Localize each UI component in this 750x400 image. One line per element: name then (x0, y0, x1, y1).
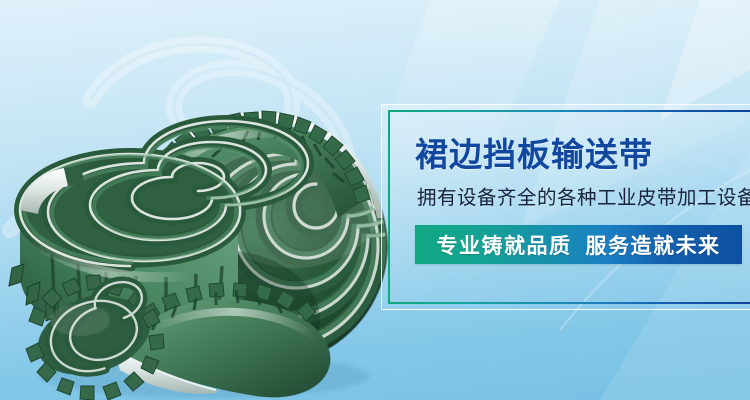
banner-copy-block: 裙边挡板输送带 拥有设备齐全的各种工业皮带加工设备 专业铸就品质服务造就未来 (415, 133, 750, 264)
promo-banner: 裙边挡板输送带 拥有设备齐全的各种工业皮带加工设备 专业铸就品质服务造就未来 (0, 0, 750, 400)
slogan-right: 服务造就未来 (586, 235, 721, 258)
product-image-conveyor-belt (0, 58, 394, 400)
slogan-badge: 专业铸就品质服务造就未来 (415, 225, 742, 264)
page-subtitle: 拥有设备齐全的各种工业皮带加工设备 (417, 183, 750, 213)
page-title: 裙边挡板输送带 (415, 133, 750, 177)
slogan-left: 专业铸就品质 (437, 235, 572, 258)
slogan-badge-text: 专业铸就品质服务造就未来 (437, 230, 721, 260)
